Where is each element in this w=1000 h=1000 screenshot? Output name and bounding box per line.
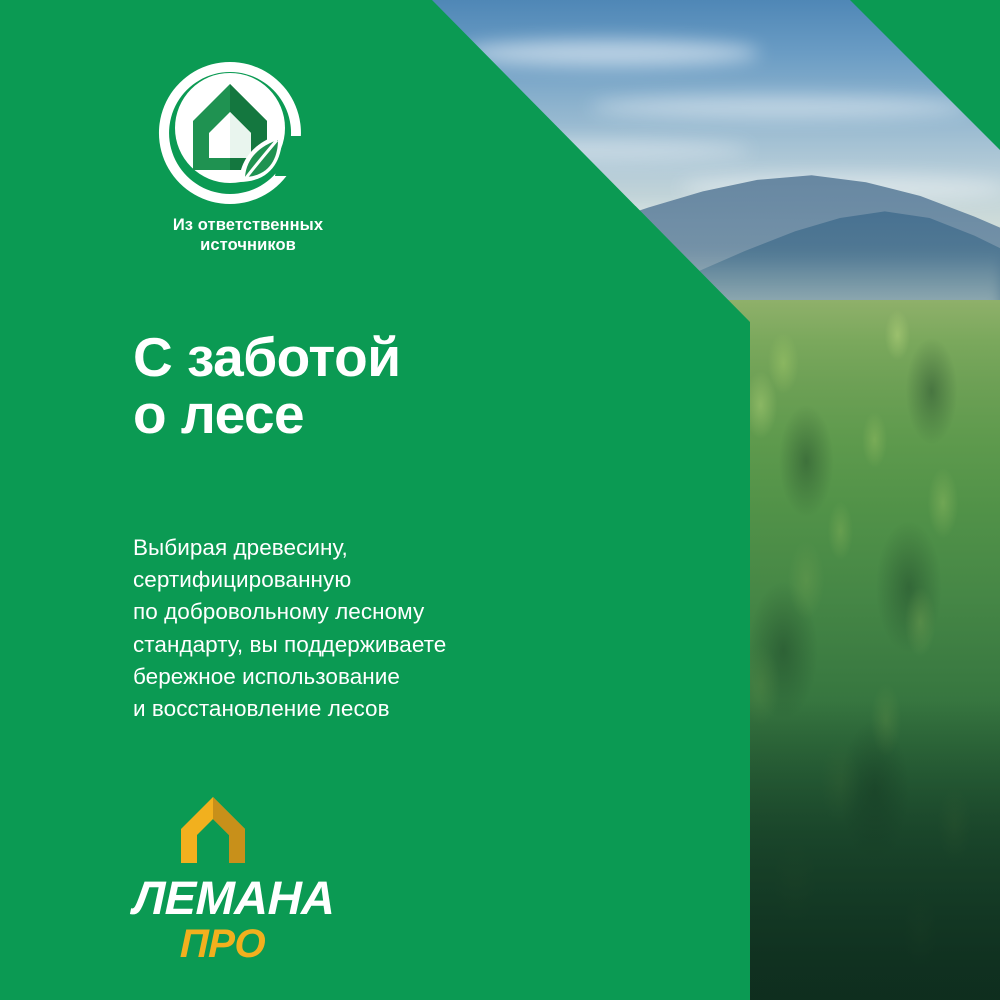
- page-title: С заботой о лесе: [133, 329, 401, 442]
- brand-sub: ПРО: [180, 924, 374, 964]
- brand-lockup: ЛЕМАНА ПРО: [133, 795, 373, 964]
- poster-root: Из ответственных источников С заботой о …: [0, 0, 1000, 1000]
- house-roof-logo-icon: [179, 795, 247, 865]
- brand-name: ЛЕМАНА: [133, 874, 374, 921]
- house-leaf-circle-emblem: [155, 58, 305, 208]
- content-column: Из ответственных источников С заботой о …: [0, 0, 760, 1000]
- body-paragraph: Выбирая древесину, сертифицированную по …: [133, 532, 446, 725]
- certification-caption: Из ответственных источников: [133, 215, 363, 255]
